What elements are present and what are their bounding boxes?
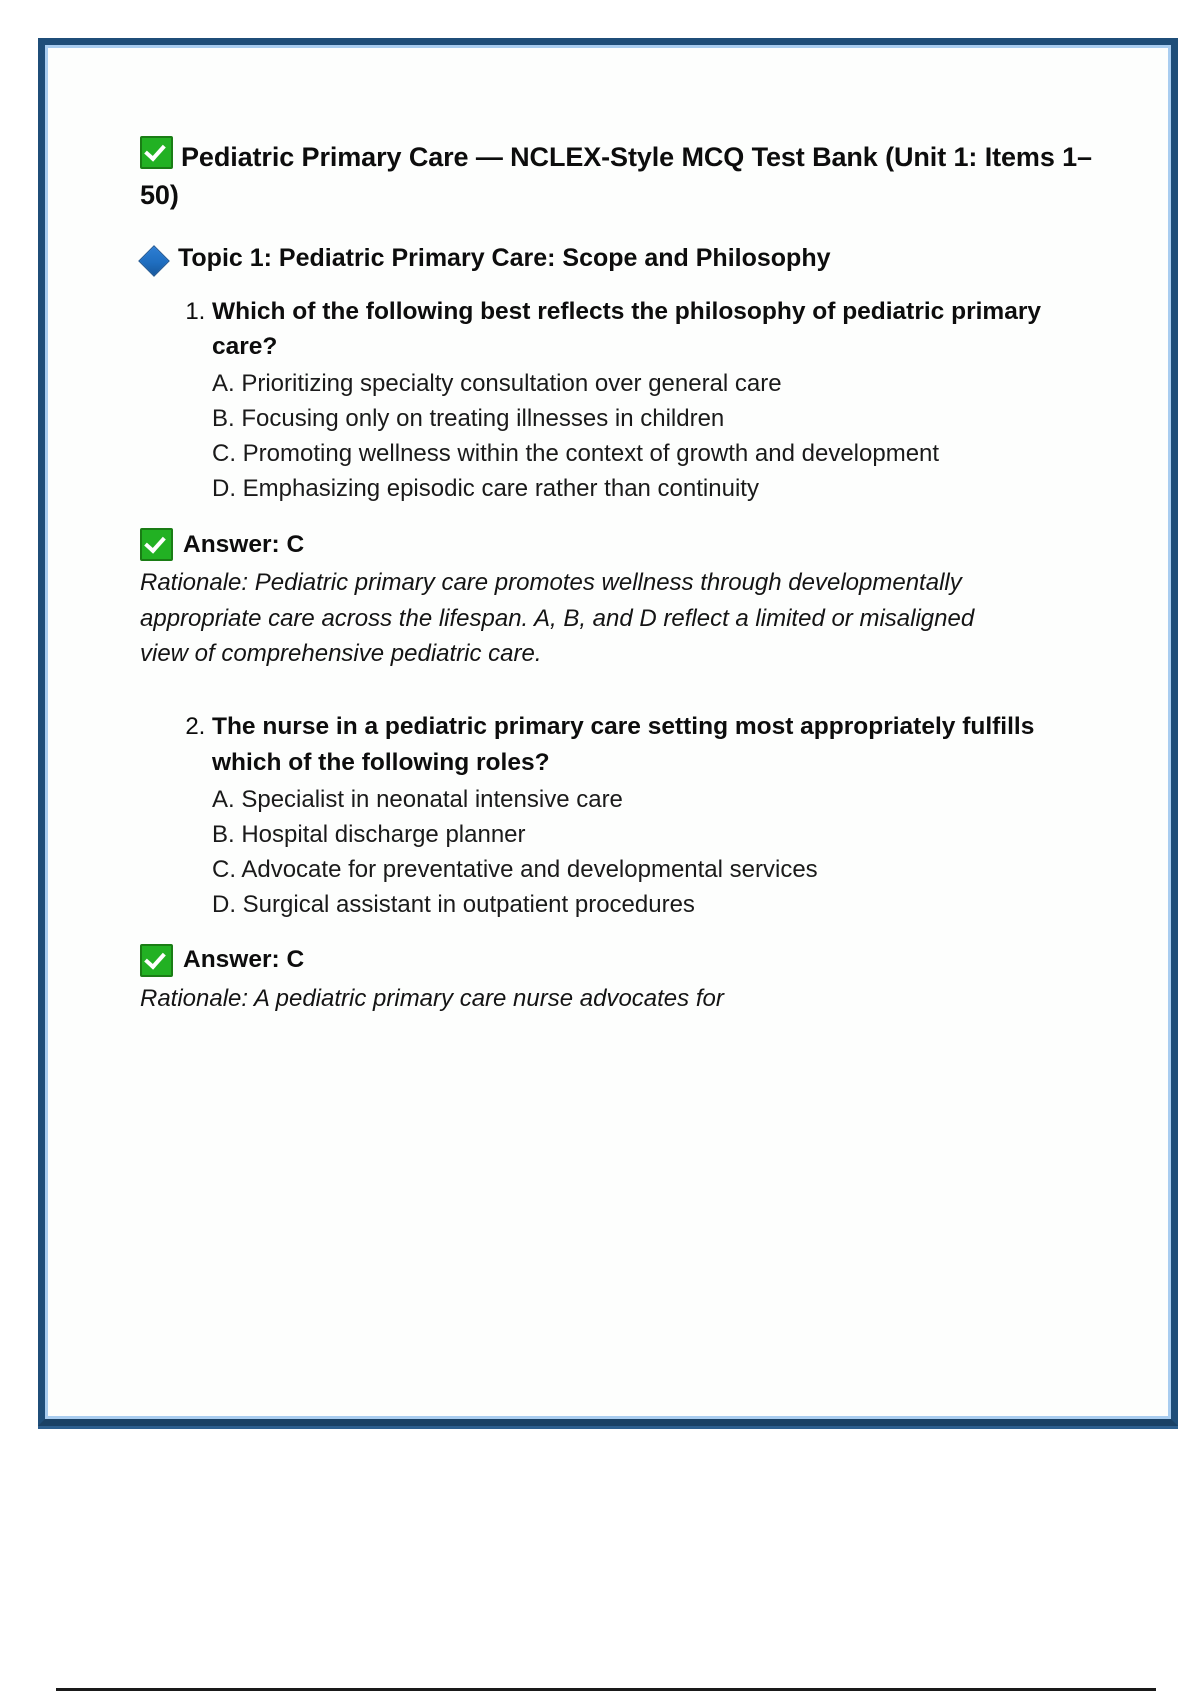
document-page-frame: Pediatric Primary Care — NCLEX-Style MCQ… — [38, 38, 1178, 1426]
option-d[interactable]: D. Surgical assistant in outpatient proc… — [212, 887, 1096, 922]
rationale-text: Rationale: Pediatric primary care promot… — [140, 565, 1020, 671]
answer-label: Answer: C — [183, 531, 304, 559]
blue-diamond-icon — [138, 245, 170, 277]
option-b[interactable]: B. Hospital discharge planner — [212, 817, 1096, 852]
option-a[interactable]: A. Prioritizing specialty consultation o… — [212, 366, 1096, 401]
question-stem: The nurse in a pediatric primary care se… — [212, 709, 1096, 781]
option-d[interactable]: D. Emphasizing episodic care rather than… — [212, 471, 1096, 506]
green-check-icon — [140, 528, 173, 561]
question-list-1: Which of the following best reflects the… — [140, 294, 1096, 507]
footer-divider — [56, 1688, 1156, 1691]
rationale-text: Rationale: A pediatric primary care nurs… — [140, 981, 1020, 1016]
document-page-inner-border: Pediatric Primary Care — NCLEX-Style MCQ… — [45, 45, 1171, 1419]
question-item: Which of the following best reflects the… — [212, 294, 1096, 507]
answer-line: Answer: C — [140, 528, 1096, 561]
option-b[interactable]: B. Focusing only on treating illnesses i… — [212, 401, 1096, 436]
document-title-line: Pediatric Primary Care — NCLEX-Style MCQ… — [140, 136, 1096, 215]
option-c[interactable]: C. Advocate for preventative and develop… — [212, 852, 1096, 887]
green-check-icon — [140, 136, 173, 169]
document-body: Pediatric Primary Care — NCLEX-Style MCQ… — [140, 136, 1096, 1396]
topic-heading-line: Topic 1: Pediatric Primary Care: Scope a… — [140, 241, 1096, 276]
question-list-2: The nurse in a pediatric primary care se… — [140, 709, 1096, 922]
answer-line: Answer: C — [140, 944, 1096, 977]
question-item: The nurse in a pediatric primary care se… — [212, 709, 1096, 922]
question-stem: Which of the following best reflects the… — [212, 294, 1096, 366]
green-check-icon — [140, 944, 173, 977]
option-a[interactable]: A. Specialist in neonatal intensive care — [212, 782, 1096, 817]
option-list: A. Prioritizing specialty consultation o… — [212, 366, 1096, 506]
option-list: A. Specialist in neonatal intensive care… — [212, 782, 1096, 922]
answer-label: Answer: C — [183, 946, 304, 974]
section-spacer — [140, 671, 1096, 709]
page-title: Pediatric Primary Care — NCLEX-Style MCQ… — [140, 142, 1092, 210]
option-c[interactable]: C. Promoting wellness within the context… — [212, 436, 1096, 471]
topic-heading-label: Topic 1: Pediatric Primary Care: Scope a… — [178, 241, 1096, 276]
